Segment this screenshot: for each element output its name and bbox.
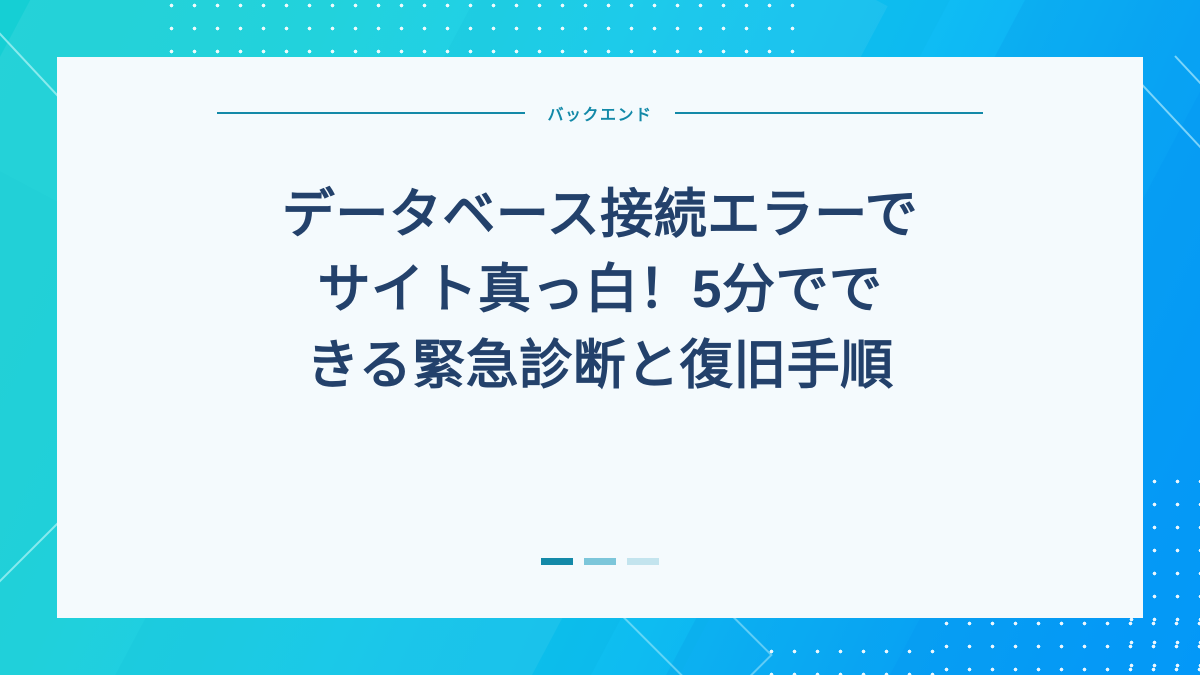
page-title: データベース接続エラーで サイト真っ白！5分でで きる緊急診断と復旧手順	[282, 177, 918, 403]
progress-dash-active	[541, 558, 573, 565]
content-card: バックエンド データベース接続エラーで サイト真っ白！5分でで きる緊急診断と復…	[57, 57, 1143, 618]
title-line-3: きる緊急診断と復旧手順	[282, 328, 918, 403]
progress-dash-mid	[584, 558, 616, 565]
category-eyebrow: バックエンド	[57, 101, 1143, 125]
eyebrow-rule-right	[675, 112, 983, 114]
category-label: バックエンド	[547, 101, 652, 125]
dot-grid-top	[160, 0, 800, 56]
hairline-topright-2	[1174, 55, 1200, 276]
dot-grid-bottom-center	[760, 640, 950, 675]
dot-grid-bottom-right	[935, 612, 1200, 675]
progress-dashes	[57, 558, 1143, 565]
title-line-1: データベース接続エラーで	[282, 177, 918, 252]
title-line-2: サイト真っ白！5分でで	[282, 252, 918, 327]
progress-dash-light	[627, 558, 659, 565]
eyebrow-rule-left	[217, 112, 525, 114]
slide-canvas: バックエンド データベース接続エラーで サイト真っ白！5分でで きる緊急診断と復…	[0, 0, 1200, 675]
